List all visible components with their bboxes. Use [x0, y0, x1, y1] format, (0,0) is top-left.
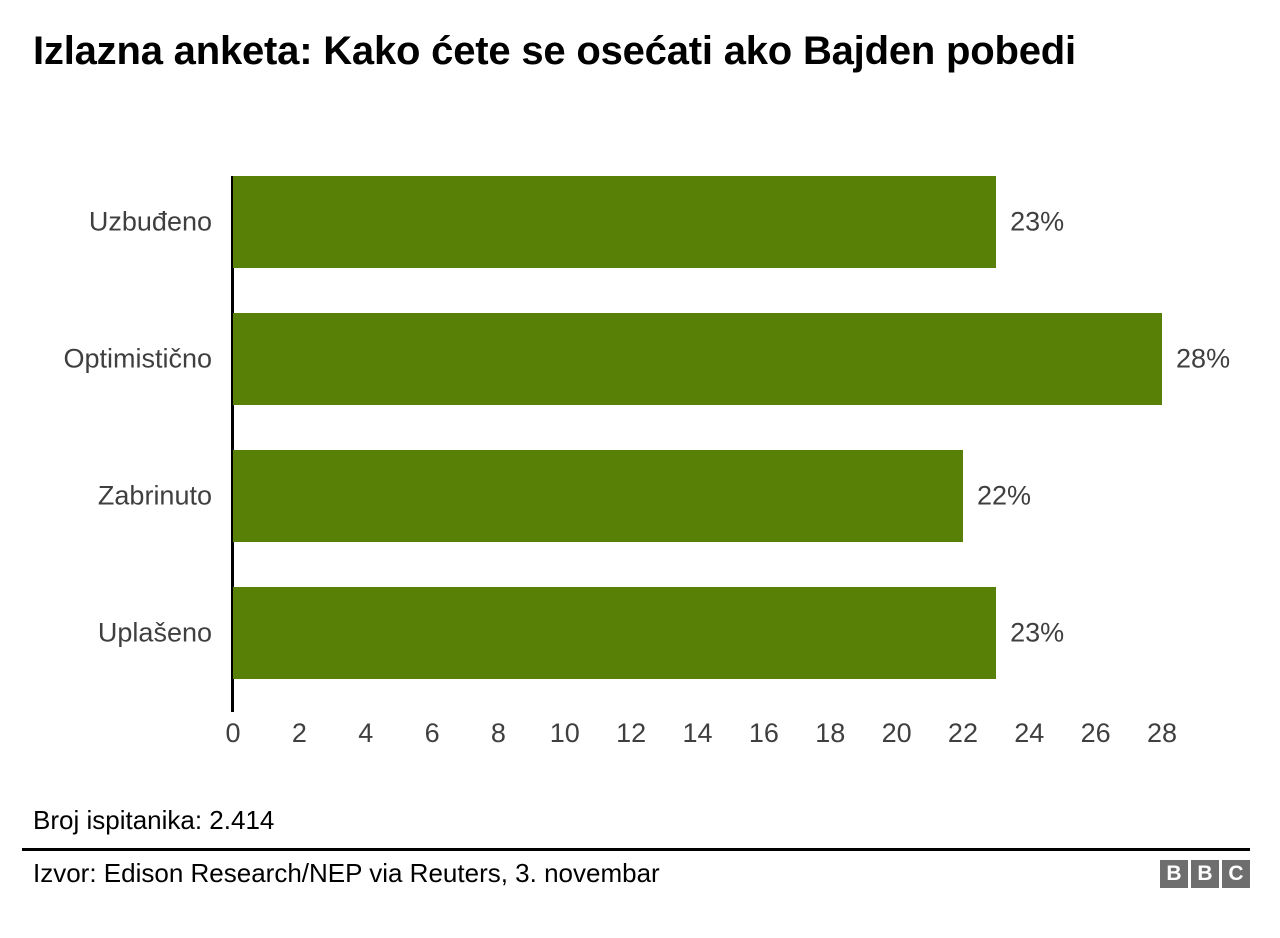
x-axis-tick-label: 22: [948, 718, 978, 749]
bbc-logo: B B C: [1160, 860, 1250, 888]
bar-value-label: 22%: [977, 481, 1031, 512]
bar-value-label: 28%: [1176, 344, 1230, 375]
page-title: Izlazna anketa: Kako ćete se osećati ako…: [33, 28, 1153, 75]
x-axis-tick-label: 28: [1147, 718, 1177, 749]
x-axis-tick-label: 8: [491, 718, 506, 749]
bar-row: Zabrinuto22%: [0, 450, 1280, 542]
x-axis-tick-label: 24: [1014, 718, 1044, 749]
x-axis-tick-label: 0: [225, 718, 240, 749]
bar-category-label: Uzbuđeno: [0, 207, 212, 238]
x-axis-tick-label: 12: [616, 718, 646, 749]
x-axis: 0246810121416182022242628: [0, 718, 1280, 762]
bar-category-label: Uplašeno: [0, 618, 212, 649]
x-axis-tick-label: 4: [358, 718, 373, 749]
x-axis-tick-label: 6: [425, 718, 440, 749]
x-axis-tick-label: 10: [550, 718, 580, 749]
x-axis-tick-label: 16: [749, 718, 779, 749]
bar-value-label: 23%: [1010, 618, 1064, 649]
bar-category-label: Optimistično: [0, 344, 212, 375]
bar-row: Uplašeno23%: [0, 587, 1280, 679]
bar-zabrinuto: [233, 450, 963, 542]
bbc-logo-letter-b2: B: [1191, 860, 1219, 888]
source-attribution: Izvor: Edison Research/NEP via Reuters, …: [33, 858, 660, 889]
bar-category-label: Zabrinuto: [0, 481, 212, 512]
bar-value-label: 23%: [1010, 207, 1064, 238]
bar-row: Uzbuđeno23%: [0, 176, 1280, 268]
x-axis-tick-label: 20: [882, 718, 912, 749]
x-axis-tick-label: 18: [815, 718, 845, 749]
bbc-logo-letter-c: C: [1222, 860, 1250, 888]
respondents-count: Broj ispitanika: 2.414: [33, 805, 274, 836]
chart-plot-area: Uzbuđeno23%Optimistično28%Zabrinuto22%Up…: [0, 176, 1280, 712]
footer-divider: [22, 848, 1250, 851]
x-axis-tick-label: 14: [682, 718, 712, 749]
x-axis-tick-label: 2: [292, 718, 307, 749]
bar-upla-eno: [233, 587, 996, 679]
bar-uzbu-eno: [233, 176, 996, 268]
bbc-logo-letter-b1: B: [1160, 860, 1188, 888]
bar-row: Optimistično28%: [0, 313, 1280, 405]
bar-optimisti-no: [233, 313, 1162, 405]
x-axis-tick-label: 26: [1081, 718, 1111, 749]
